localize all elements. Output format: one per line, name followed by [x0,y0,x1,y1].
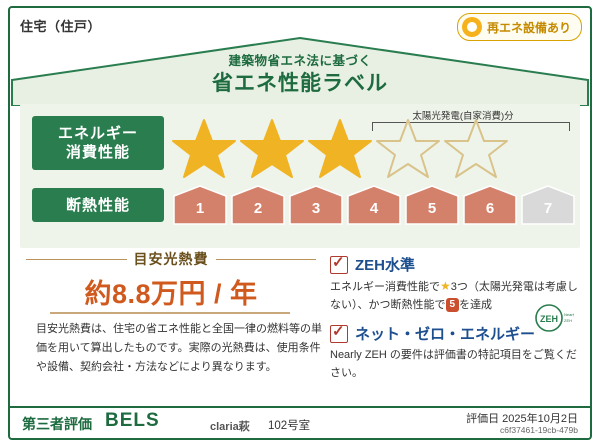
cost-description: 目安光熱費は、住宅の省エネ性能と全国一律の燃料等の単価を用いて算出したものです。… [36,320,324,377]
room-number: 102号室 [268,417,310,433]
star-1-filled-icon [172,118,236,180]
energy-performance-label-line2: 消費性能 [66,143,130,162]
evaluation-date: 評価日 2025年10月2日 [466,410,578,426]
cost-rule-right [216,259,317,260]
star-3-filled-icon [308,118,372,180]
zeh-standard-text-a: エネルギー消費性能で [330,281,440,293]
roof-header: 建築物省エネ法に基づく 省エネ性能ラベル [10,34,590,106]
star-rating [172,118,572,174]
insulation-grade-5: 5 [404,184,460,226]
insulation-grade-4: 4 [346,184,402,226]
svg-text:ZEH: ZEH [564,318,572,323]
inline-star-icon: ★ [440,279,451,293]
star-4-outline-icon [376,118,440,180]
energy-label-card: 住宅（住戸） 再エネ設備あり 建築物省エネ法に基づく 省エネ性能ラベル エネルギ… [8,6,592,440]
energy-performance-label: エネルギー 消費性能 [32,116,164,170]
star-5-outline-icon [444,118,508,180]
bels-logo: BELS [105,410,160,432]
certificate-number: c6f37461-19cb-479b [500,425,578,435]
third-party-evaluation-label: 第三者評価 [22,414,92,434]
inline-grade-badge: 5 [446,298,460,312]
net-zero-energy-title: ネット・ゼロ・エネルギー [355,323,535,344]
insulation-performance-label: 断熱性能 [32,188,164,222]
checkbox-checked-icon-2 [330,325,348,343]
property-name: claria萩 [210,418,250,434]
cost-rule-left [26,259,127,260]
zeh-standard-text-c: を達成 [459,299,492,311]
svg-text:ZEH: ZEH [540,314,558,324]
performance-panel: エネルギー 消費性能 断熱性能 太陽光発電(自家消費)分 1234567 [20,104,580,248]
star-2-filled-icon [240,118,304,180]
energy-performance-label-line1: エネルギー [58,124,138,143]
svg-text:Nearly: Nearly [564,312,574,317]
cost-value: 約8.8万円 / 年 [26,272,316,311]
zeh-mark-icon: ZEH Nearly ZEH [534,304,574,334]
insulation-performance-label-text: 断熱性能 [66,196,130,215]
net-zero-energy-text: Nearly ZEH の要件は評価書の特記項目をご覧ください。 [330,346,580,382]
zeh-section: ZEH水準 エネルギー消費性能で★3つ（太陽光発電は考慮しない）、かつ断熱性能で… [330,254,580,391]
label-title: 省エネ性能ラベル [10,67,590,97]
insulation-grade-1: 1 [172,184,228,226]
cost-title: 目安光熱費 [127,249,216,269]
dwelling-type-text: 住宅（住戸） [20,16,101,35]
checkbox-checked-icon [330,256,348,274]
zeh-standard-row: ZEH水準 [330,254,580,275]
zeh-standard-title: ZEH水準 [355,254,415,275]
cost-title-row: 目安光熱費 [26,248,316,270]
insulation-grade-2: 2 [230,184,286,226]
insulation-grade-6: 6 [462,184,518,226]
footer: 第三者評価 BELS claria萩 102号室 評価日 2025年10月2日 … [10,406,590,440]
insulation-grade-7: 7 [520,184,576,226]
renewable-equipment-label: 再エネ設備あり [487,19,571,36]
cost-underline [50,312,290,314]
insulation-grade-3: 3 [288,184,344,226]
